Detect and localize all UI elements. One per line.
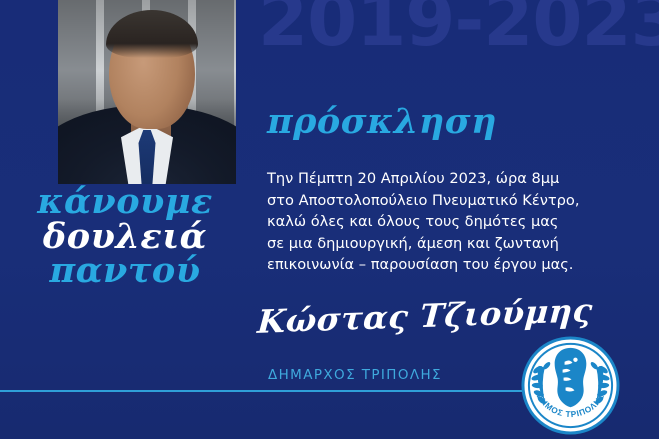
campaign-slogan: κάνουμε δουλειά παντού bbox=[0, 185, 250, 289]
invitation-body-line: επικοινωνία – παρουσίαση του έργου μας. bbox=[267, 254, 607, 276]
invitation-body-line: στο Αποστολοπούλειο Πνευματικό Κέντρο, bbox=[267, 190, 607, 212]
footer-divider bbox=[0, 390, 545, 392]
invitation-body: Την Πέμπτη 20 Απριλίου 2023, ώρα 8μμ στο… bbox=[267, 168, 607, 276]
mayor-portrait-photo bbox=[58, 0, 236, 184]
slogan-line-3: παντού bbox=[0, 254, 250, 289]
invitation-title: πρόσκληση bbox=[267, 104, 497, 139]
mayor-role-label: ΔΗΜΑΡΧΟΣ ΤΡΙΠΟΛΗΣ bbox=[268, 367, 442, 383]
invitation-poster: 2019-2023 κάνουμε δουλειά παντού πρόσκλη… bbox=[0, 0, 659, 439]
photo-tie bbox=[139, 130, 156, 184]
municipality-seal-icon: ΔΗΜΟΣ ΤΡΙΠΟΛΗΣ bbox=[521, 336, 620, 435]
slogan-line-1: κάνουμε bbox=[0, 185, 250, 220]
invitation-body-line: σε μια δημιουργική, άμεση και ζωντανή bbox=[267, 233, 607, 255]
invitation-body-line: Την Πέμπτη 20 Απριλίου 2023, ώρα 8μμ bbox=[267, 168, 607, 190]
year-range-watermark: 2019-2023 bbox=[258, 0, 659, 59]
invitation-body-line: καλώ όλες και όλους τους δημότες μας bbox=[267, 211, 607, 233]
slogan-line-2: δουλειά bbox=[0, 220, 250, 255]
